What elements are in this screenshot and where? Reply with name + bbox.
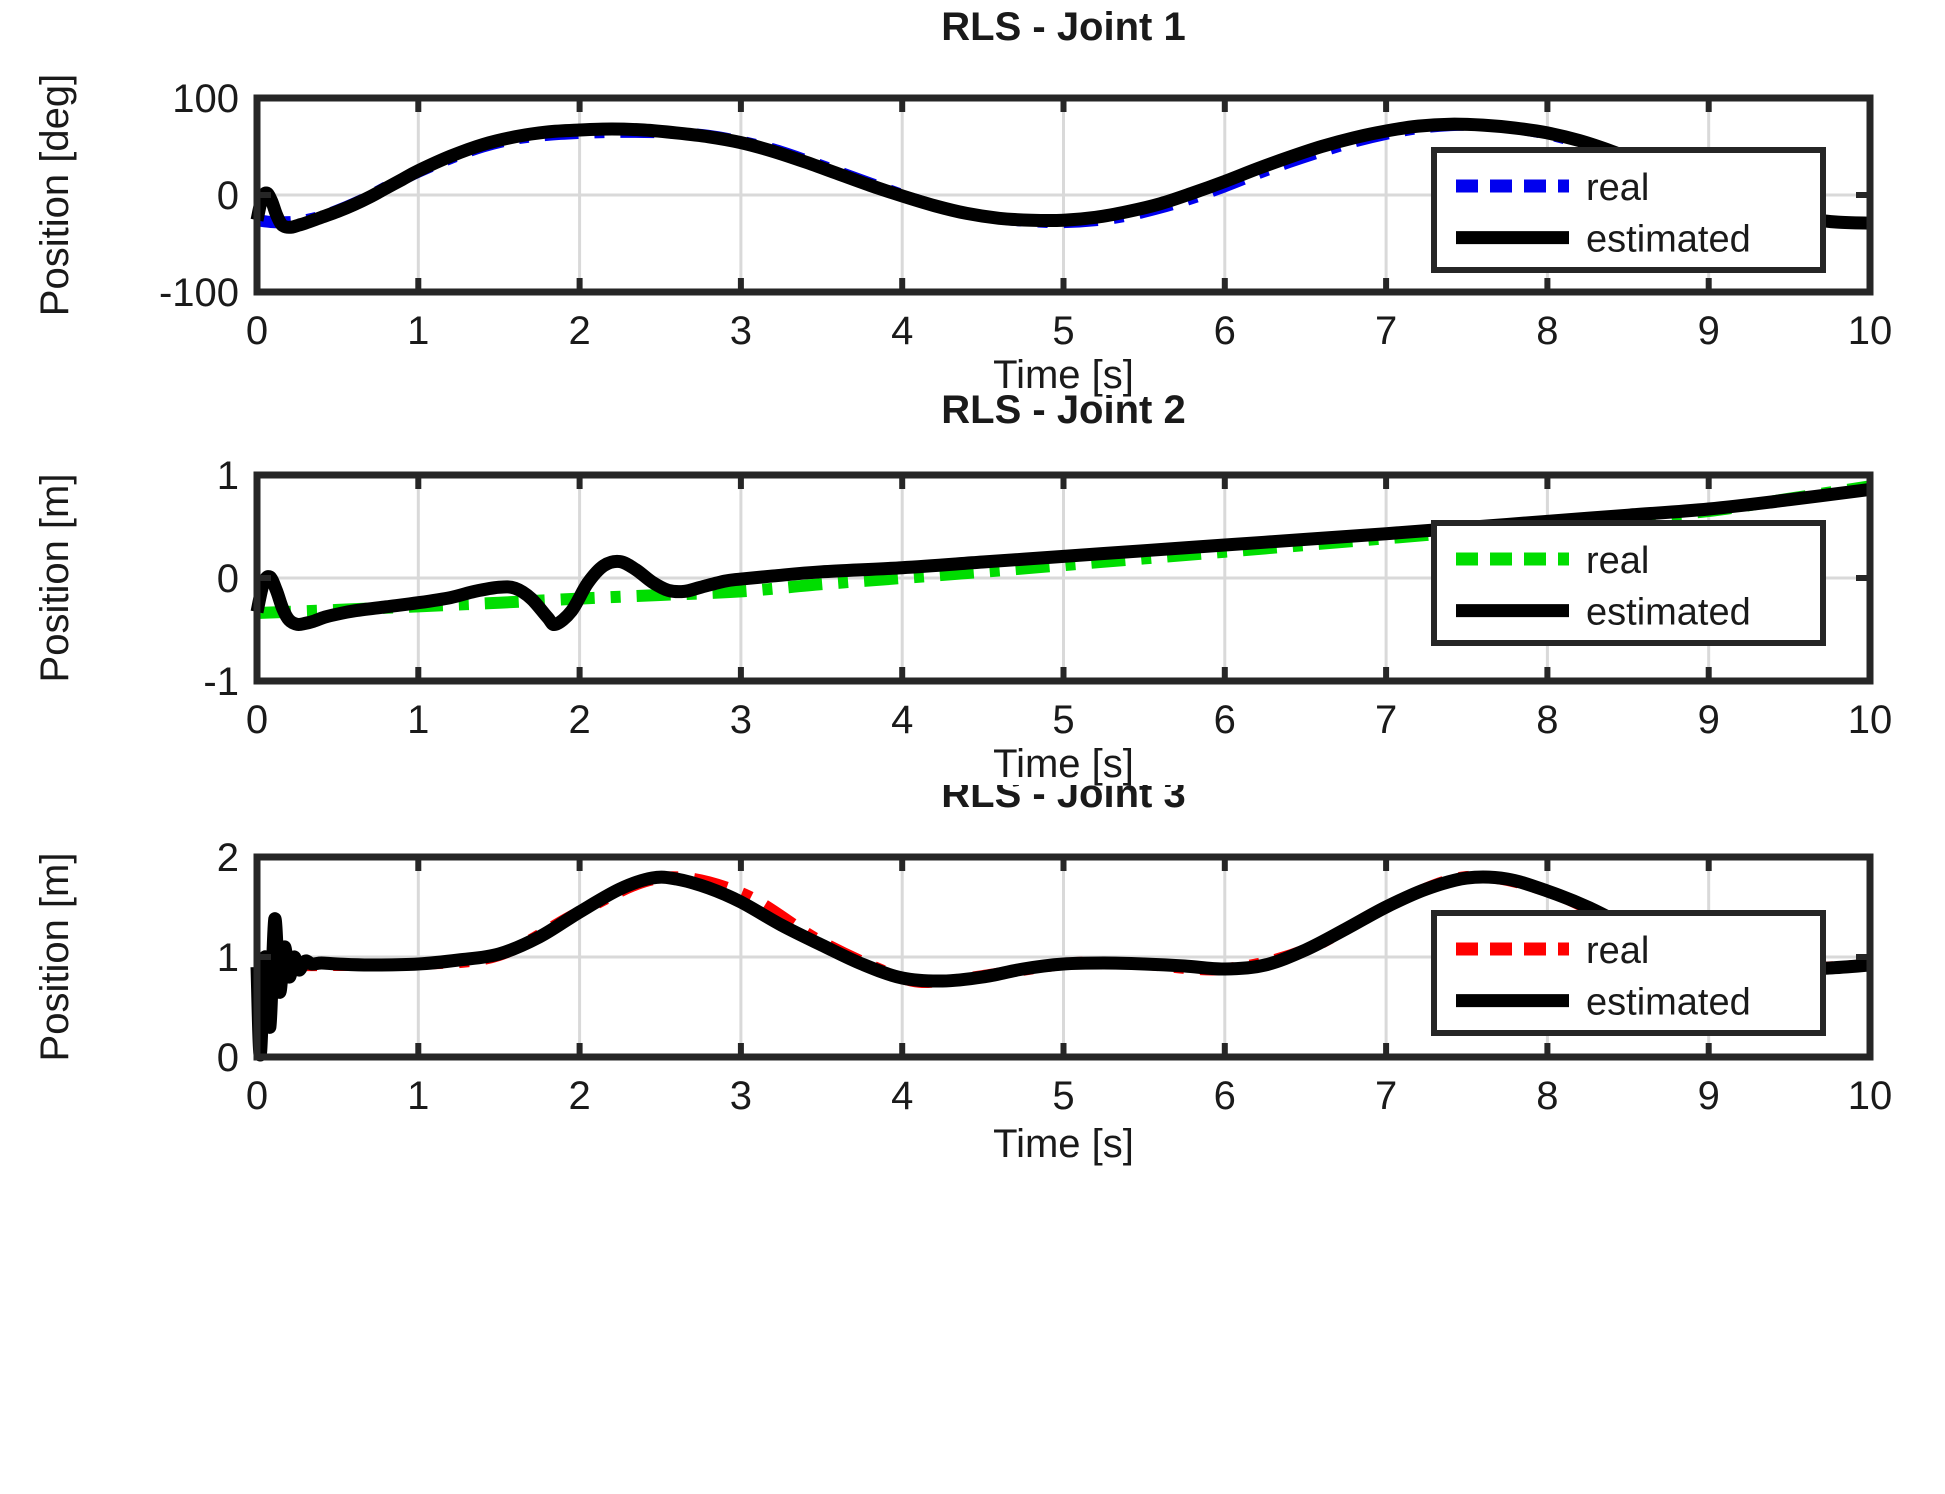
subplot-joint-1: RLS - Joint 1Position [deg]012345678910-… (0, 0, 1945, 410)
x-tick-label: 1 (407, 698, 429, 742)
legend-label-real[interactable]: real (1586, 167, 1649, 209)
x-tick-label: 2 (568, 309, 590, 353)
legend-label-estimated[interactable]: estimated (1586, 982, 1751, 1024)
y-tick-label: 0 (217, 174, 239, 218)
figure-root: RLS - Joint 1Position [deg]012345678910-… (0, 0, 1945, 1494)
x-tick-label: 0 (246, 309, 268, 353)
legend[interactable]: realestimated (1434, 150, 1823, 270)
x-tick-label: 5 (1052, 698, 1074, 742)
chart-joint-1: RLS - Joint 1Position [deg]012345678910-… (0, 0, 1945, 410)
x-tick-label: 3 (730, 698, 752, 742)
legend[interactable]: realestimated (1434, 523, 1823, 643)
y-tick-label: -1 (203, 660, 239, 704)
legend-label-estimated[interactable]: estimated (1586, 592, 1751, 634)
x-tick-label: 5 (1052, 1074, 1074, 1118)
y-tick-label: 0 (217, 557, 239, 601)
x-tick-label: 8 (1536, 309, 1558, 353)
x-tick-label: 1 (407, 1074, 429, 1118)
x-tick-label: 2 (568, 1074, 590, 1118)
x-axis-label: Time [s] (993, 742, 1134, 786)
y-tick-label: -100 (159, 271, 239, 315)
y-axis-label: Position [m] (33, 474, 77, 683)
legend-label-estimated[interactable]: estimated (1586, 219, 1751, 261)
x-axis-label: Time [s] (993, 1122, 1134, 1166)
x-tick-label: 6 (1214, 309, 1236, 353)
x-tick-label: 2 (568, 698, 590, 742)
x-tick-label: 9 (1698, 698, 1720, 742)
x-axis-label: Time [s] (993, 353, 1134, 397)
x-tick-label: 8 (1536, 698, 1558, 742)
x-tick-label: 0 (246, 698, 268, 742)
x-tick-label: 6 (1214, 698, 1236, 742)
x-tick-label: 10 (1848, 698, 1893, 742)
y-tick-label: 100 (172, 77, 239, 121)
chart-title: RLS - Joint 2 (941, 395, 1185, 432)
subplot-joint-3: RLS - Joint 3Position [m]012345678910012… (0, 785, 1945, 1185)
x-tick-label: 3 (730, 309, 752, 353)
legend-label-real[interactable]: real (1586, 930, 1649, 972)
legend-label-real[interactable]: real (1586, 540, 1649, 582)
chart-joint-2: RLS - Joint 2Position [m]012345678910-10… (0, 395, 1945, 795)
chart-joint-3: RLS - Joint 3Position [m]012345678910012… (0, 785, 1945, 1185)
x-tick-label: 1 (407, 309, 429, 353)
x-tick-label: 7 (1375, 1074, 1397, 1118)
x-tick-label: 9 (1698, 309, 1720, 353)
x-tick-label: 4 (891, 309, 913, 353)
chart-title: RLS - Joint 3 (941, 785, 1185, 816)
x-tick-label: 7 (1375, 309, 1397, 353)
x-tick-label: 10 (1848, 309, 1893, 353)
y-tick-label: 1 (217, 936, 239, 980)
x-tick-label: 10 (1848, 1074, 1893, 1118)
y-tick-label: 0 (217, 1036, 239, 1080)
legend[interactable]: realestimated (1434, 913, 1823, 1033)
x-tick-label: 8 (1536, 1074, 1558, 1118)
x-tick-label: 0 (246, 1074, 268, 1118)
x-tick-label: 6 (1214, 1074, 1236, 1118)
x-tick-label: 3 (730, 1074, 752, 1118)
chart-title: RLS - Joint 1 (941, 5, 1185, 49)
x-tick-label: 7 (1375, 698, 1397, 742)
y-axis-label: Position [deg] (33, 74, 77, 316)
x-tick-label: 4 (891, 698, 913, 742)
x-tick-label: 5 (1052, 309, 1074, 353)
y-tick-label: 1 (217, 454, 239, 498)
subplot-joint-2: RLS - Joint 2Position [m]012345678910-10… (0, 395, 1945, 795)
y-axis-label: Position [m] (33, 853, 77, 1062)
x-tick-label: 4 (891, 1074, 913, 1118)
x-tick-label: 9 (1698, 1074, 1720, 1118)
y-tick-label: 2 (217, 836, 239, 880)
